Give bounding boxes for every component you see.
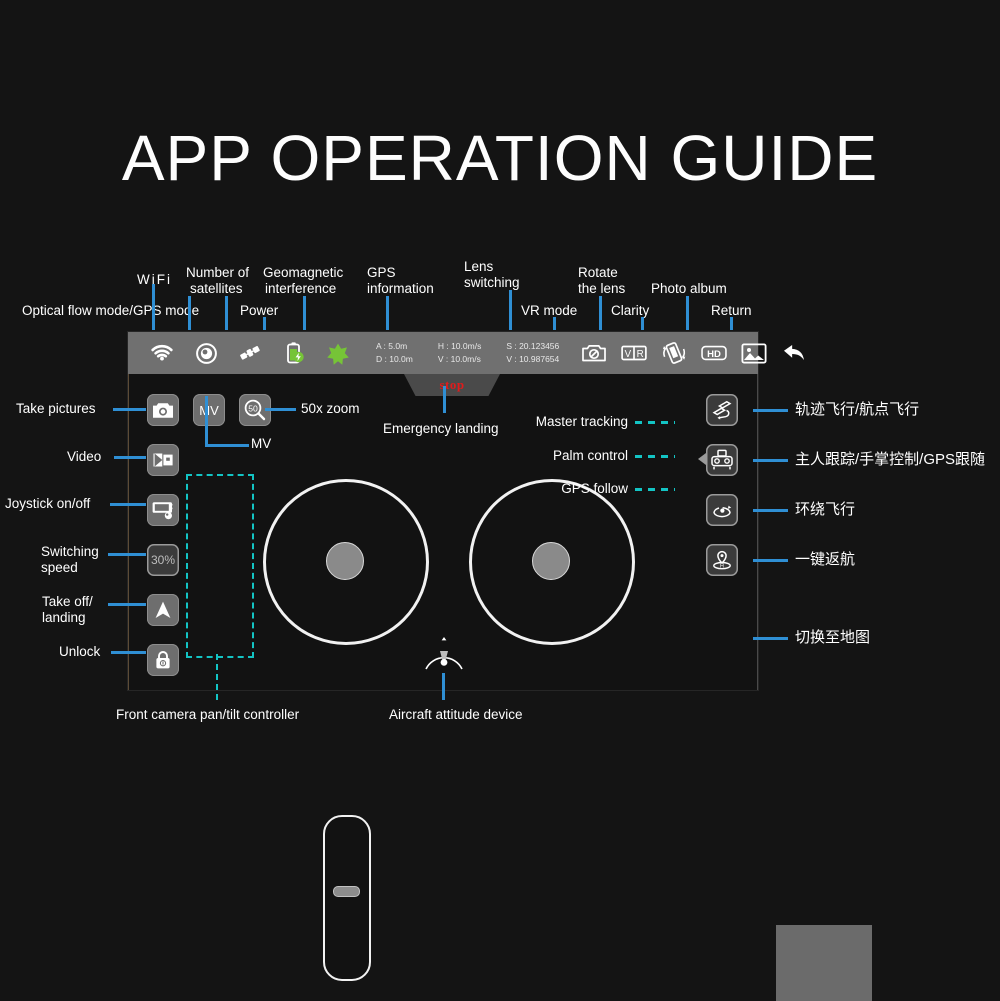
unlock-button[interactable] [147,644,179,676]
label-unlock: Unlock [59,644,100,659]
label-joystick-toggle: Joystick on/off [5,496,90,511]
callout-power: Power [240,303,278,318]
telemetry-col-2: S : 20.123456 V : 10.987654 [506,340,559,366]
follow-me-button[interactable] [706,444,738,476]
leader-line-clarity [641,317,644,330]
dashed-line-gps-follow [635,488,675,491]
callout-optical-flow-mode: Optical flow mode/GPS mode [22,303,199,318]
label-orbit-flight: 环绕飞行 [795,502,855,517]
label-takeoff-landing-line2: landing [42,610,86,625]
leader-line-switch-to-map [753,637,788,640]
svg-text:50: 50 [248,403,258,413]
label-switching-speed-line1: Switching [41,544,99,559]
orbit-flight-button[interactable] [706,494,738,526]
leader-line-front-camera [216,654,218,700]
leader-line-orbit-flight [753,509,788,512]
panel-left-edge [128,374,129,690]
telemetry-col-1: H : 10.0m/s V : 10.0m/s [438,340,481,366]
callout-gps-line1: GPS [367,265,396,280]
callout-satellites-line2: satellites [190,281,243,296]
emergency-landing-label[interactable]: stop [404,374,500,396]
label-take-pictures: Take pictures [16,401,96,416]
waypoint-flight-button[interactable] [706,394,738,426]
telemetry-v-speed: V : 10.0m/s [438,353,481,366]
front-camera-pan-tilt-knob[interactable] [333,886,360,897]
label-front-camera: Front camera pan/tilt controller [116,707,299,722]
callout-geomagnetic-line2: interference [265,281,336,296]
wifi-icon[interactable] [150,341,174,365]
switching-speed-button[interactable]: 30% [147,544,179,576]
callout-photo-album: Photo album [651,281,727,296]
callout-gps-line2: information [367,281,434,296]
leader-line-takeoff-landing [108,603,146,606]
callout-return: Return [711,303,752,318]
label-switch-to-map: 切换至地图 [795,630,870,645]
leader-line-waypoint-flight [753,409,788,412]
switch-to-map-thumbnail[interactable] [776,925,872,1001]
aircraft-attitude-device [418,633,470,675]
vr-mode-icon[interactable]: V R [621,340,647,366]
callout-rotate-lens-line2: the lens [578,281,625,296]
dashed-line-master-tracking [635,421,675,424]
selection-pointer-icon [698,453,706,465]
leader-line-video [114,456,146,459]
left-joystick-knob[interactable] [326,542,364,580]
label-switching-speed-line2: speed [41,560,78,575]
status-bar: A : 5.0m D : 10.0m H : 10.0m/s V : 10.0m… [128,332,758,374]
telemetry-distance: D : 10.0m [376,353,413,366]
video-button[interactable] [147,444,179,476]
lens-switching-icon[interactable] [581,340,607,366]
photo-album-icon[interactable] [741,340,767,366]
page-title: APP OPERATION GUIDE [0,126,1000,190]
label-palm-control: Palm control [406,448,628,463]
leader-line-switching-speed [108,553,146,556]
dashed-line-palm-control [635,455,675,458]
telemetry-readout: A : 5.0m D : 10.0m H : 10.0m/s V : 10.0m… [376,340,559,366]
clarity-hd-icon[interactable]: HD [701,340,727,366]
svg-text:H: H [720,563,724,569]
rotate-the-lens-icon[interactable] [661,340,687,366]
callout-clarity: Clarity [611,303,649,318]
right-joystick-knob[interactable] [532,542,570,580]
battery-icon[interactable] [282,341,306,365]
callout-satellites-line1: Number of [186,265,249,280]
svg-text:HD: HD [707,349,721,360]
label-master-tracking: Master tracking [406,414,628,429]
leader-line-satellites [225,296,228,330]
label-waypoint-flight: 轨迹飞行/航点飞行 [795,402,919,417]
leader-line-optical-flow [188,296,191,330]
label-mv: MV [251,436,271,451]
takeoff-landing-button[interactable] [147,594,179,626]
label-takeoff-landing-line1: Take off/ [42,594,93,609]
leader-line-gps [386,296,389,330]
label-50x-zoom: 50x zoom [301,401,360,416]
take-pictures-button[interactable] [147,394,179,426]
leader-line-rotate-lens [599,296,602,330]
label-video: Video [67,449,101,464]
pan-tilt-highlight-box [186,474,254,658]
callout-lens-switching-line1: Lens [464,259,493,274]
svg-text:V: V [625,349,632,360]
telemetry-latitude: S : 20.123456 [506,340,559,353]
leader-line-unlock [111,651,146,654]
return-icon[interactable] [781,340,807,366]
leader-line-emergency-landing [443,386,446,413]
leader-line-power [263,317,266,330]
panel-right-edge [757,374,758,690]
geomagnetic-icon[interactable] [326,341,350,365]
leader-line-mv [205,396,249,447]
label-return-home: 一键返航 [795,552,855,567]
label-aircraft-attitude: Aircraft attitude device [389,707,523,722]
leader-line-joystick-toggle [110,503,146,506]
leader-line-aircraft-attitude [442,673,445,700]
label-gps-follow: GPS follow [406,481,628,496]
telemetry-col-0: A : 5.0m D : 10.0m [376,340,413,366]
telemetry-altitude: A : 5.0m [376,340,413,353]
leader-line-photo-album [686,296,689,330]
optical-flow-gps-mode-icon[interactable] [194,341,218,365]
leader-line-50x-zoom [265,408,296,411]
joystick-toggle-button[interactable] [147,494,179,526]
switching-speed-value: 30% [151,553,175,567]
label-follow-me: 主人跟踪/手掌控制/GPS跟随 [795,452,985,467]
svg-text:R: R [637,349,644,360]
return-home-button[interactable]: H [706,544,738,576]
callout-vr-mode: VR mode [521,303,577,318]
telemetry-h-speed: H : 10.0m/s [438,340,481,353]
front-camera-pan-tilt-slider[interactable] [323,815,371,981]
leader-line-wifi [152,284,155,330]
callout-geomagnetic-line1: Geomagnetic [263,265,343,280]
leader-line-geomagnetic [303,296,306,330]
callout-lens-switching-line2: switching [464,275,520,290]
leader-line-return [730,317,733,330]
leader-line-follow-me [753,459,788,462]
callout-rotate-lens-line1: Rotate [578,265,618,280]
satellite-icon[interactable] [238,341,262,365]
leader-line-return-home [753,559,788,562]
leader-line-lens-switching [509,290,512,330]
leader-line-vr-mode [553,317,556,330]
leader-line-take-pictures [113,408,146,411]
telemetry-longitude: V : 10.987654 [506,353,559,366]
